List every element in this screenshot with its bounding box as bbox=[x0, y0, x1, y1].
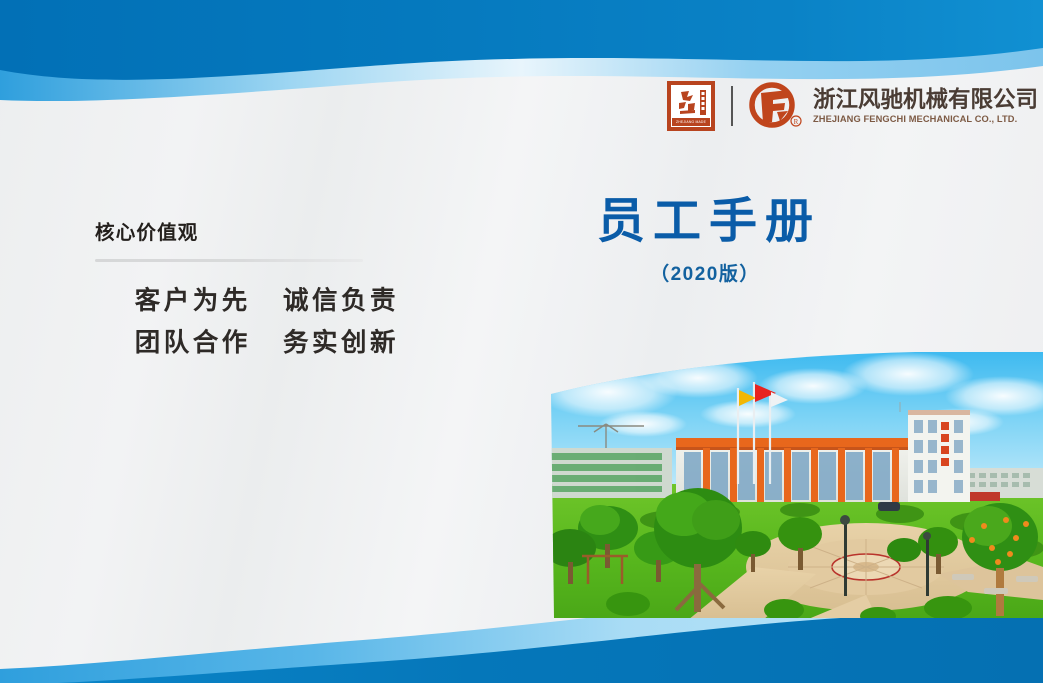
logo-divider bbox=[731, 86, 733, 126]
edition-subtitle: （2020版） bbox=[560, 259, 850, 286]
seal-caption: ZHEJIANG MADE bbox=[672, 118, 710, 126]
core-values-line-1: 客户为先 诚信负责 bbox=[95, 281, 399, 322]
core-value-2: 诚信负责 bbox=[283, 287, 399, 315]
core-values-line-2: 团队合作 务实创新 bbox=[95, 323, 399, 364]
campus-photo-image bbox=[548, 352, 1043, 620]
core-values-heading: 核心价值观 bbox=[95, 222, 415, 245]
core-values-block: 核心价值观 客户为先 诚信负责 团队合作 务实创新 bbox=[95, 222, 415, 364]
core-values-divider bbox=[95, 259, 363, 262]
zhejiang-made-seal-icon: ZHEJIANG MADE bbox=[667, 81, 715, 131]
core-value-4: 务实创新 bbox=[283, 329, 399, 357]
company-name-cn: 浙江风驰机械有限公司 bbox=[813, 88, 1038, 112]
top-band-dark bbox=[0, 0, 1043, 80]
page-title: 员工手册 bbox=[560, 196, 850, 249]
company-name-en: ZHEJIANG FENGCHI MECHANICAL CO., LTD. bbox=[813, 114, 1038, 124]
company-name-group: 浙江风驰机械有限公司 ZHEJIANG FENGCHI MECHANICAL C… bbox=[813, 88, 1038, 124]
cover-title-block: 员工手册 （2020版） bbox=[560, 196, 850, 286]
bottom-band-dark bbox=[0, 614, 1043, 683]
core-value-3: 团队合作 bbox=[135, 329, 251, 357]
core-values-list: 客户为先 诚信负责 团队合作 务实创新 bbox=[95, 281, 415, 364]
fengchi-monogram-icon: R bbox=[747, 81, 803, 131]
company-logo-lockup: ZHEJIANG MADE R 浙江风驰机械有限公司 ZHEJIANG FENG… bbox=[667, 79, 1038, 133]
svg-text:R: R bbox=[794, 118, 799, 126]
core-value-1: 客户为先 bbox=[135, 287, 251, 315]
campus-photo bbox=[548, 352, 1043, 620]
brochure-cover: ZHEJIANG MADE R 浙江风驰机械有限公司 ZHEJIANG FENG… bbox=[0, 0, 1043, 683]
